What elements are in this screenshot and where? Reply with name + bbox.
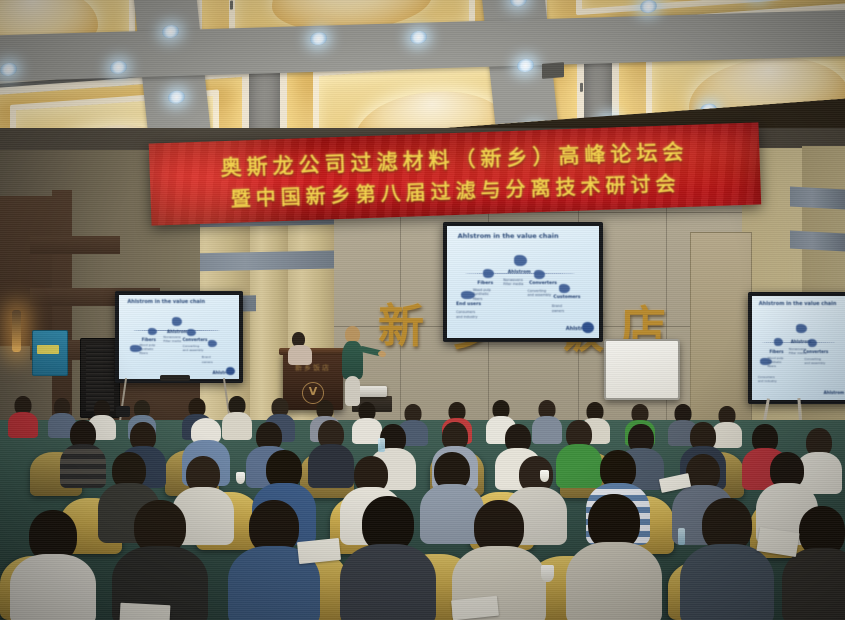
slide-node-caption: Nonwovens Filter media (789, 347, 807, 355)
slide-node-caption: Nonwovens Filter media (503, 278, 523, 287)
left-lcd-monitor: Ahlstrom in the value chain Ahlstrom Fib… (115, 291, 243, 383)
slide-value-chain: Ahlstrom in the value chain Ahlstrom Fib… (447, 226, 599, 338)
left-wall-pilaster (52, 190, 72, 430)
slide-value-chain: Ahlstrom in the value chain Ahlstrom Fib… (752, 296, 845, 400)
slide-node-caption: Brand owners (202, 355, 213, 363)
slide-node-caption: Wood pulp Synthetic fibers (139, 343, 155, 355)
attendee-front (340, 496, 436, 620)
slide-node-label: Ahlstrom (167, 329, 188, 334)
wall-door (690, 232, 752, 424)
slide-title: Ahlstrom in the value chain (458, 232, 559, 240)
attendee-front (680, 498, 774, 620)
slide-node-label: Customers (553, 295, 580, 300)
wall-accent-band (790, 187, 845, 210)
slide-node-caption: Converting and assembly (804, 357, 825, 365)
right-tripod-screen: Ahlstrom in the value chain Ahlstrom Fib… (748, 292, 845, 404)
wall-accent-band (790, 231, 845, 252)
moderator-at-podium (288, 332, 312, 362)
wall-sconce-light (12, 310, 21, 352)
paper-cup (541, 565, 554, 582)
slide-node-caption: Converting and assembly (528, 289, 552, 298)
presenter (340, 326, 366, 406)
paper-cup (236, 472, 245, 484)
center-projection-screen: Ahlstrom in the value chain Ahlstrom Fib… (443, 222, 603, 342)
wall-accent-band (186, 250, 334, 271)
attendee-front (10, 510, 96, 620)
slide-node-label: Fibers (477, 281, 493, 286)
whiteboard (604, 339, 680, 400)
venue-name-char: 新 (378, 290, 424, 356)
wall-notice-sign (32, 330, 68, 376)
slide-node-label: Fibers (769, 349, 783, 354)
paper-cup (540, 470, 549, 482)
slide-logo: Ahlstrom (824, 390, 845, 395)
slide-node-caption: Nonwovens Filter media (163, 335, 181, 343)
water-bottle (678, 528, 685, 545)
slide-node-label: End users (456, 302, 481, 307)
slide-node-caption: Consumers and industry (456, 310, 477, 319)
handout (120, 603, 171, 620)
slide-node-caption: Wood pulp Synthetic fibers (768, 356, 784, 368)
slide-node-caption: Wood pulp Synthetic fibers (473, 288, 491, 302)
conference-hall-photo: 新 乡 饭 店 奥斯龙公司过滤材料（新乡）高峰论坛会 暨中国新乡第八届过滤与分离… (0, 0, 845, 620)
attendee-front (112, 500, 208, 620)
slide-title: Ahlstrom in the value chain (759, 301, 837, 307)
left-wall-pilaster (0, 196, 52, 346)
slide-node-caption: Converting and assembly (183, 344, 204, 352)
handout (297, 538, 341, 564)
attendee-front (782, 506, 845, 620)
water-bottle (378, 438, 385, 452)
attendee-front (566, 494, 662, 620)
slide-title: Ahlstrom in the value chain (127, 299, 205, 305)
slide-node-label: Converters (183, 337, 208, 342)
slide-node-label: Converters (803, 349, 828, 354)
slide-node-caption: Consumers and industry (758, 375, 777, 383)
attendee (8, 396, 38, 436)
slide-node-label: Converters (529, 281, 557, 286)
slide-value-chain: Ahlstrom in the value chain Ahlstrom Fib… (119, 295, 239, 379)
slide-node-label: Ahlstrom (508, 270, 531, 275)
monitor-stand (160, 375, 190, 381)
left-wall-band (30, 236, 120, 254)
slide-node-caption: Brand owners (552, 304, 564, 313)
slide-node-label: Fibers (142, 337, 156, 342)
video-camera (116, 406, 130, 417)
